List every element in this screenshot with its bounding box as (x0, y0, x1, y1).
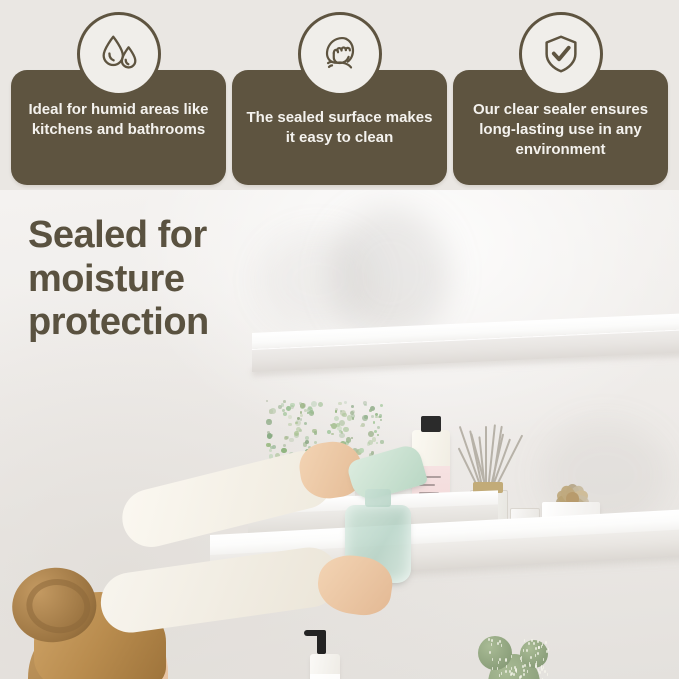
shield-check-icon (538, 31, 584, 77)
water-droplets-icon (96, 31, 142, 77)
feature-icon-circle (298, 12, 382, 96)
product-infographic: out (0, 0, 679, 679)
spray-bottle-neck (365, 489, 391, 507)
feature-card-row: Ideal for humid areas like kitchens and … (11, 70, 668, 185)
feature-icon-circle (77, 12, 161, 96)
bottle-cap (421, 416, 441, 432)
feature-card-clear-sealer[interactable]: Our clear sealer ensures long-lasting us… (453, 70, 668, 185)
feature-card-text: The sealed surface makes it easy to clea… (240, 108, 439, 148)
feature-card-text: Our clear sealer ensures long-lasting us… (461, 100, 660, 160)
headline-line-2: moisture (28, 258, 278, 302)
cactus-plant (478, 630, 550, 679)
upper-floating-shelf (252, 333, 679, 377)
hand-wiping-cloth-icon (317, 31, 363, 77)
feature-card-humid-areas[interactable]: Ideal for humid areas like kitchens and … (11, 70, 226, 185)
headline-line-3: protection (28, 301, 278, 345)
page-title: Sealed for moisture protection (28, 214, 278, 345)
headline-line-1: Sealed for (28, 214, 278, 258)
feature-icon-circle (519, 12, 603, 96)
feature-card-easy-clean[interactable]: The sealed surface makes it easy to clea… (232, 70, 447, 185)
feature-card-text: Ideal for humid areas like kitchens and … (19, 100, 218, 140)
